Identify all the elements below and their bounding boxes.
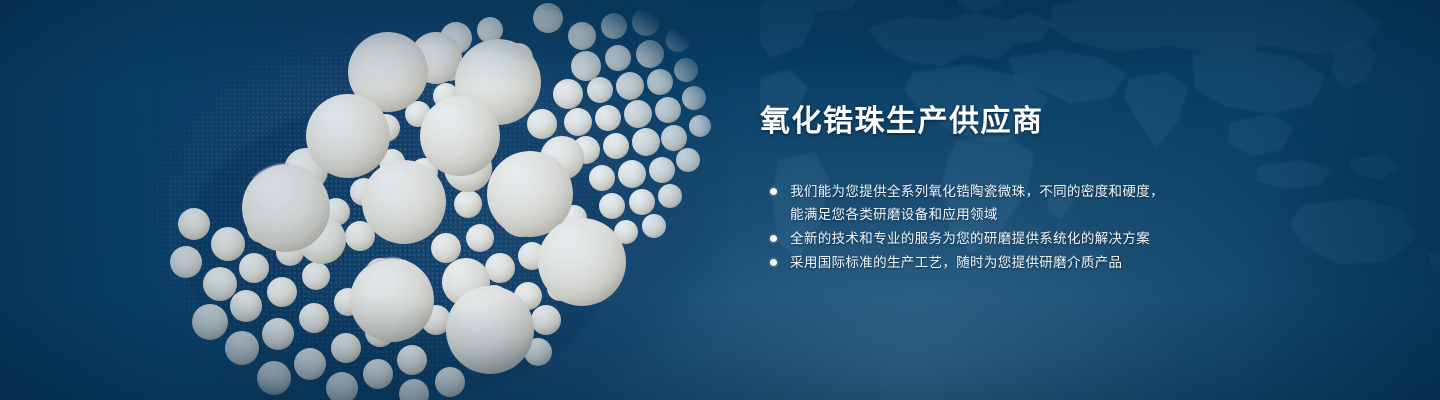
list-item: 采用国际标准的生产工艺，随时为您提供研磨介质产品 bbox=[760, 251, 1280, 274]
list-item-line: 全新的技术和专业的服务为您的研磨提供系统化的解决方案 bbox=[790, 227, 1280, 250]
hero-banner: 氧化锆珠生产供应商 我们能为您提供全系列氧化锆陶瓷微珠，不同的密度和硬度， 能满… bbox=[0, 0, 1440, 400]
list-item: 我们能为您提供全系列氧化锆陶瓷微珠，不同的密度和硬度， 能满足您各类研磨设备和应… bbox=[760, 180, 1280, 226]
bullet-dot-icon bbox=[770, 188, 777, 195]
list-item-line: 能满足您各类研磨设备和应用领域 bbox=[790, 203, 1280, 226]
list-item-line: 我们能为您提供全系列氧化锆陶瓷微珠，不同的密度和硬度， bbox=[790, 180, 1280, 203]
feature-list: 我们能为您提供全系列氧化锆陶瓷微珠，不同的密度和硬度， 能满足您各类研磨设备和应… bbox=[760, 180, 1280, 274]
list-item: 全新的技术和专业的服务为您的研磨提供系统化的解决方案 bbox=[760, 227, 1280, 250]
page-title: 氧化锆珠生产供应商 bbox=[760, 104, 1280, 140]
banner-copy: 氧化锆珠生产供应商 我们能为您提供全系列氧化锆陶瓷微珠，不同的密度和硬度， 能满… bbox=[760, 104, 1280, 275]
bullet-dot-icon bbox=[770, 235, 777, 242]
list-item-line: 采用国际标准的生产工艺，随时为您提供研磨介质产品 bbox=[790, 251, 1280, 274]
bullet-dot-icon bbox=[770, 259, 777, 266]
